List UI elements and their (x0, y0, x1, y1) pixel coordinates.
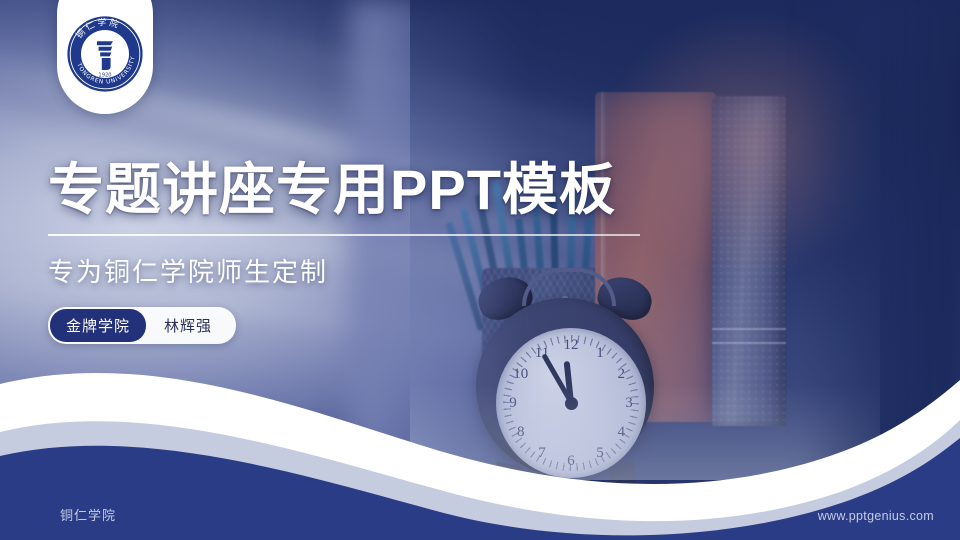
footer-university-name: 铜仁学院 (60, 505, 116, 524)
svg-text:1920: 1920 (98, 72, 111, 78)
university-logo-badge: 铜仁学院 TONGREN UNIVERSITY 1920 (57, 0, 153, 114)
title-divider (48, 234, 640, 236)
page-subtitle: 专为铜仁学院师生定制 (48, 252, 708, 289)
credit-pill-group: 金牌学院 林辉强 (48, 307, 236, 344)
headline-block: 专题讲座专用PPT模板 专为铜仁学院师生定制 (48, 160, 708, 289)
presentation-slide: 121234567891011 (0, 0, 960, 540)
badge-primary[interactable]: 金牌学院 (50, 309, 146, 342)
badge-author[interactable]: 林辉强 (146, 309, 234, 342)
bottom-wave-decoration (0, 340, 960, 540)
page-title: 专题讲座专用PPT模板 (48, 160, 708, 220)
footer-website: www.pptgenius.com (818, 509, 934, 523)
university-seal-icon: 铜仁学院 TONGREN UNIVERSITY 1920 (65, 14, 145, 94)
